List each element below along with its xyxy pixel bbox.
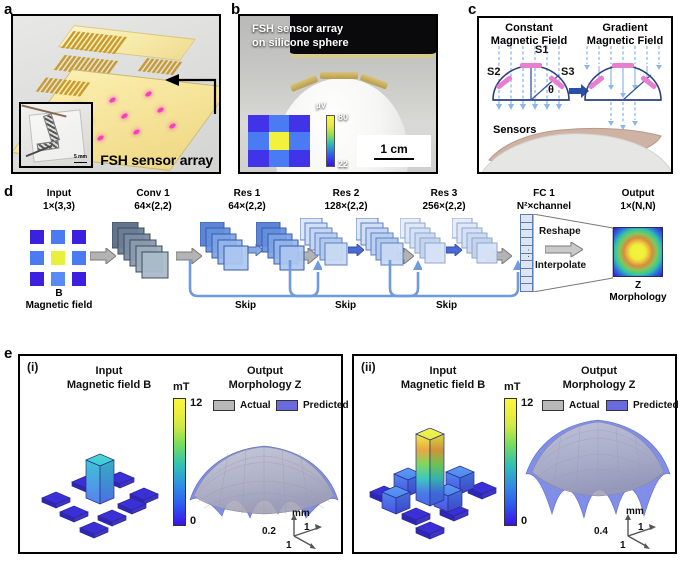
voltage-colorbar: µV 80 22: [316, 101, 360, 167]
stage-heading-output: Output 1×(N,N): [600, 188, 676, 213]
inset-scalebar: 5 mm: [74, 155, 87, 163]
subpanel-ii-roman: (ii): [361, 360, 376, 374]
sensor-label-s3: S3: [561, 66, 574, 78]
subpanel-i-colorbar: [173, 398, 186, 526]
angle-theta-label: θ: [548, 84, 554, 96]
panel-d-network-diagram: Input 1×(3,3) Conv 1 64×(2,2) Res 1 64×(…: [0, 182, 685, 340]
subpanel-i-roman: (i): [27, 360, 38, 374]
caption-line-1: FSH sensor array: [252, 23, 349, 37]
subpanel-ii-bar-chart: [362, 428, 508, 548]
output-morphology-image: [613, 227, 663, 277]
voltage-heatmap: [248, 115, 310, 167]
caption-line-2: on silicone sphere: [252, 37, 349, 51]
subpanel-ii-axis-triad: [612, 506, 664, 550]
subpanel-ii: (ii) Input Magnetic field B Output Morph…: [352, 354, 677, 554]
panel-a-inset-photo: 5 mm: [19, 102, 93, 168]
subpanel-i-legend-predicted: Predicted: [276, 400, 349, 411]
subpanel-i-axis-z-max: 0.2: [262, 526, 276, 537]
gray-arrow-right-icon: [545, 242, 583, 257]
interpolate-label: Interpolate: [535, 260, 586, 271]
skip-label-3: Skip: [436, 300, 457, 311]
skip-label-2: Skip: [335, 300, 356, 311]
legend-label-predicted: Predicted: [633, 400, 679, 411]
subpanel-i-colorbar-unit: mT: [173, 381, 190, 393]
subpanel-ii-output-title: Output Morphology Z: [532, 364, 666, 393]
stage-heading-fc1: FC 1 N²×channel: [496, 188, 592, 213]
scalebar-label: 1 cm: [380, 142, 407, 156]
colorbar-gradient: [326, 115, 335, 167]
legend-label-predicted: Predicted: [303, 400, 349, 411]
subpanel-ii-axis-z-max: 0.4: [594, 526, 608, 537]
scalebar-line: [374, 158, 414, 160]
subpanel-ii-colorbar-unit: mT: [504, 381, 521, 393]
input-magnetic-field-grid: [30, 230, 86, 286]
constant-field-dome: [485, 44, 577, 118]
sensors-label: Sensors: [493, 124, 536, 136]
skip-connection-arrow-icon: [386, 260, 522, 302]
legend-label-actual: Actual: [240, 400, 271, 411]
subpanel-i-bar-chart: [32, 448, 172, 548]
panel-b-caption: FSH sensor array on silicone sphere: [252, 23, 349, 51]
subpanel-i-colorbar-max: 12: [190, 397, 202, 409]
sensor-strip: [320, 72, 358, 79]
skip-label-1: Skip: [235, 300, 256, 311]
subpanel-i-input-title: Input Magnetic field B: [44, 364, 174, 393]
stage-heading-res2: Res 2 128×(2,2): [306, 188, 386, 213]
colorbar-min-label: 22: [338, 159, 348, 169]
scalebar-box: 1 cm: [357, 135, 431, 167]
arrow-left-icon: [163, 68, 217, 116]
panel-c-diagram: Constant Magnetic Field Gradient Magneti…: [477, 16, 673, 174]
subpanel-ii-legend-actual: Actual: [542, 400, 600, 411]
legend-label-actual: Actual: [569, 400, 600, 411]
legend-swatch-predicted: [276, 400, 298, 411]
subpanel-ii-legend-predicted: Predicted: [606, 400, 679, 411]
subpanel-i-axis-triad: [278, 506, 330, 550]
subpanel-ii-input-title: Input Magnetic field B: [378, 364, 508, 393]
conv1-feature-stack: [112, 222, 182, 292]
panel-c-letter: c: [468, 1, 476, 18]
subpanel-i-legend-actual: Actual: [213, 400, 271, 411]
subpanel-i: (i) Input Magnetic field B Output Morpho…: [18, 354, 343, 554]
sensor-label-s2: S2: [487, 66, 500, 78]
stage-heading-res3: Res 3 256×(2,2): [404, 188, 484, 213]
legend-swatch-actual: [542, 400, 564, 411]
output-caption: Z Morphology: [600, 280, 676, 304]
panel-b-photo: FSH sensor array on silicone sphere µV 8…: [238, 14, 438, 174]
body-surface: [481, 130, 673, 174]
legend-swatch-predicted: [606, 400, 628, 411]
stage-heading-input: Input 1×(3,3): [24, 188, 94, 213]
subpanel-i-output-title: Output Morphology Z: [200, 364, 330, 393]
sensor-label-s1: S1: [535, 44, 548, 56]
subpanel-ii-colorbar-max: 12: [521, 397, 533, 409]
panel-a-main-label: FSH sensor array: [100, 152, 213, 168]
stage-heading-conv1: Conv 1 64×(2,2): [116, 188, 190, 213]
panel-a-image: FSH sensor array 5 mm: [11, 14, 221, 174]
reshape-label: Reshape: [539, 226, 581, 237]
panel-e-prediction-results: (i) Input Magnetic field B Output Morpho…: [0, 344, 685, 563]
stage-heading-res1: Res 1 64×(2,2): [210, 188, 284, 213]
colorbar-max-label: 80: [338, 112, 348, 122]
legend-swatch-actual: [213, 400, 235, 411]
input-caption: B Magnetic field: [24, 288, 94, 312]
colorbar-unit: µV: [316, 101, 326, 110]
